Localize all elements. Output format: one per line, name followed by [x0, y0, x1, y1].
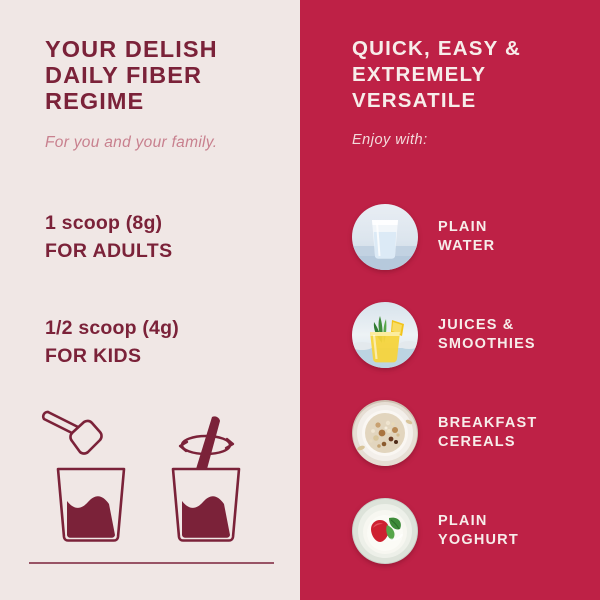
- dosage-adults-audience: For Adults: [45, 237, 285, 265]
- right-panel: Quick, Easy & Extremely Versatile Enjoy …: [300, 0, 600, 600]
- yoghurt-bowl-photo-icon: [352, 498, 418, 564]
- list-item: Plain Water: [300, 188, 600, 286]
- preparation-illustration: [36, 400, 266, 545]
- scoop-icon: [43, 412, 101, 454]
- dosage-adults-amount: 1 scoop (8g): [45, 210, 285, 237]
- dosage-adults: 1 scoop (8g) For Adults: [45, 210, 285, 265]
- list-item-label: Plain Yoghurt: [438, 512, 519, 550]
- dosage-kids-amount: 1/2 scoop (4g): [45, 315, 285, 342]
- cereal-bowl-photo-icon: [352, 400, 418, 466]
- straw-icon: [196, 416, 220, 469]
- bottom-divider-rule: [29, 562, 274, 564]
- list-item-label: Juices & Smoothies: [438, 316, 536, 354]
- right-panel-subtitle: Enjoy with:: [352, 132, 428, 148]
- list-item-label: Plain Water: [438, 218, 495, 256]
- right-panel-heading: Quick, Easy & Extremely Versatile: [352, 36, 592, 114]
- preparation-illustration-svg: [36, 400, 266, 545]
- dosage-kids: 1/2 scoop (4g) For Kids: [45, 315, 285, 370]
- enjoy-with-list: Plain Water: [300, 188, 600, 580]
- juice-glass-photo-icon: [352, 302, 418, 368]
- dosage-kids-audience: For Kids: [45, 342, 285, 370]
- glass-liquid-step-two: [182, 496, 230, 537]
- left-panel-heading: Your Delish Daily Fiber Regime: [45, 36, 280, 114]
- fiber-supplement-infographic: Your Delish Daily Fiber Regime For you a…: [0, 0, 600, 600]
- glass-liquid-step-one: [67, 496, 115, 537]
- list-item: Juices & Smoothies: [300, 286, 600, 384]
- list-item: Plain Yoghurt: [300, 482, 600, 580]
- water-glass-photo-icon: [352, 204, 418, 270]
- left-panel: Your Delish Daily Fiber Regime For you a…: [0, 0, 300, 600]
- list-item-label: Breakfast Cereals: [438, 414, 537, 452]
- left-panel-subtitle: For you and your family.: [45, 132, 225, 153]
- list-item: Breakfast Cereals: [300, 384, 600, 482]
